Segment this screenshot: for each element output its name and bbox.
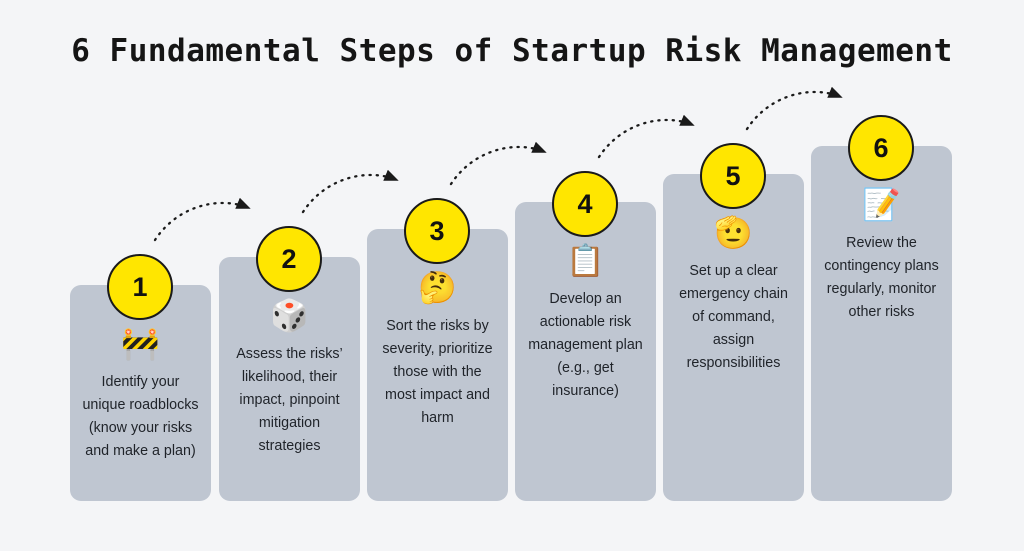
memo-emoji: 📝 bbox=[811, 190, 952, 226]
clipboard-emoji: 📋 bbox=[515, 246, 656, 282]
step-card-4[interactable]: 📋 Develop an actionable risk management … bbox=[515, 202, 656, 501]
step-description-4: Develop an actionable risk management pl… bbox=[524, 288, 647, 403]
step-description-6: Review the contingency plans regularly, … bbox=[820, 232, 943, 324]
step-description-5: Set up a clear emergency chain of comman… bbox=[672, 260, 795, 375]
step-description-2: Assess the risks’ likelihood, their impa… bbox=[228, 343, 351, 458]
step-card-2[interactable]: 🎲 Assess the risks’ likelihood, their im… bbox=[219, 257, 360, 501]
step-badge-4[interactable]: 4 bbox=[552, 171, 618, 237]
saluting-face-emoji: 🫡 bbox=[663, 218, 804, 254]
step-card-6[interactable]: 📝 Review the contingency plans regularly… bbox=[811, 146, 952, 501]
infographic-stage: 6 Fundamental Steps of Startup Risk Mana… bbox=[0, 0, 1024, 551]
arrow-step2-to-step3 bbox=[303, 175, 397, 212]
step-badge-3[interactable]: 3 bbox=[404, 198, 470, 264]
thinking-face-emoji: 🤔 bbox=[367, 273, 508, 309]
step-badge-2[interactable]: 2 bbox=[256, 226, 322, 292]
game-die-emoji: 🎲 bbox=[219, 301, 360, 337]
arrow-step1-to-step2 bbox=[155, 203, 249, 240]
step-card-3[interactable]: 🤔 Sort the risks by severity, prioritize… bbox=[367, 229, 508, 501]
step-card-5[interactable]: 🫡 Set up a clear emergency chain of comm… bbox=[663, 174, 804, 501]
arrow-step5-to-step6 bbox=[747, 92, 841, 129]
page-title: 6 Fundamental Steps of Startup Risk Mana… bbox=[0, 33, 1024, 69]
step-description-1: Identify your unique roadblocks (know yo… bbox=[79, 371, 202, 463]
arrow-step3-to-step4 bbox=[451, 147, 545, 184]
construction-barrier-emoji: 🚧 bbox=[70, 329, 211, 365]
step-badge-1[interactable]: 1 bbox=[107, 254, 173, 320]
step-description-3: Sort the risks by severity, prioritize t… bbox=[376, 315, 499, 430]
step-badge-6[interactable]: 6 bbox=[848, 115, 914, 181]
step-badge-5[interactable]: 5 bbox=[700, 143, 766, 209]
arrow-step4-to-step5 bbox=[599, 120, 693, 157]
